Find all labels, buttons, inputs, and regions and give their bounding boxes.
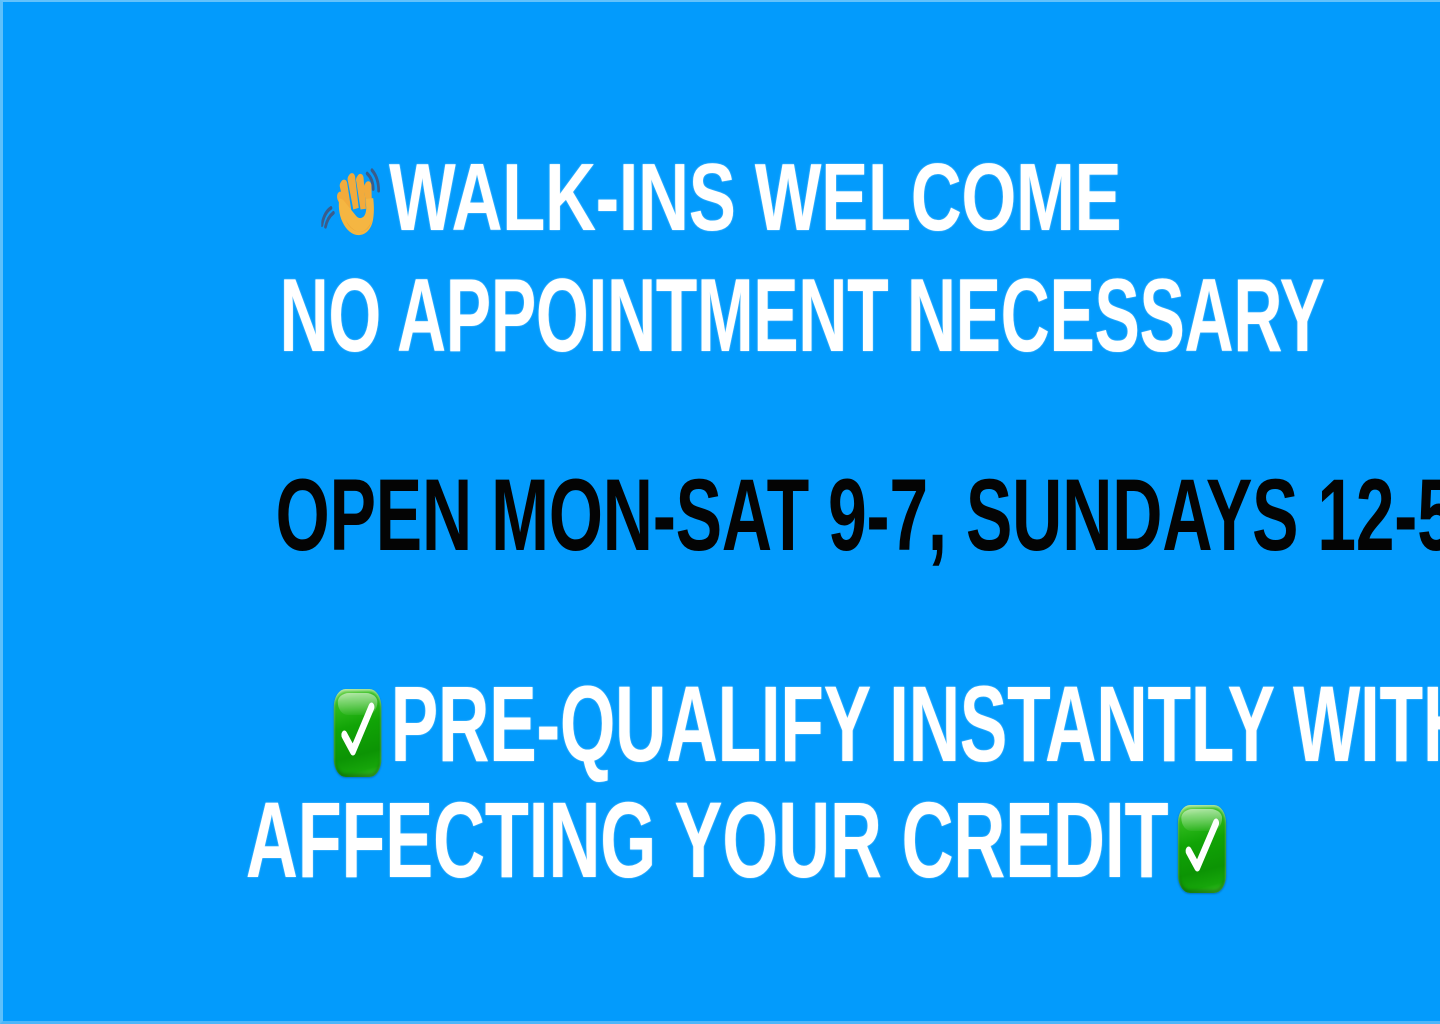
prequalify-line1-text: PRE-QUALIFY INSTANTLY WITHOUT (391, 663, 1440, 784)
affecting-credit-headline: AFFECTING YOUR CREDIT (3, 786, 1440, 894)
waving-hand-icon (322, 162, 382, 246)
prequalify-headline-inner: PRE-QUALIFY INSTANTLY WITHOUT (334, 670, 1440, 778)
check-mark-button-icon (334, 689, 382, 777)
affecting-credit-inner: AFFECTING YOUR CREDIT (246, 786, 1226, 894)
check-mark-button-icon (1178, 805, 1226, 893)
no-appointment-text: NO APPOINTMENT NECESSARY (280, 264, 1325, 368)
walkins-line1-text: WALK-INS WELCOME (389, 144, 1121, 251)
walkins-headline-inner: WALK-INS WELCOME (322, 150, 1122, 246)
prequalify-headline: PRE-QUALIFY INSTANTLY WITHOUT (3, 670, 1440, 778)
promotional-banner: WALK-INS WELCOME NO APPOINTMENT NECESSAR… (0, 0, 1440, 1024)
prequalify-line2-text: AFFECTING YOUR CREDIT (246, 779, 1168, 900)
walkins-headline: WALK-INS WELCOME (3, 150, 1440, 246)
store-hours-text: OPEN MON-SAT 9-7, SUNDAYS 12-5 (276, 464, 1440, 566)
no-appointment-headline: NO APPOINTMENT NECESSARY (3, 264, 1440, 368)
store-hours-line: OPEN MON-SAT 9-7, SUNDAYS 12-5 (3, 464, 1440, 566)
